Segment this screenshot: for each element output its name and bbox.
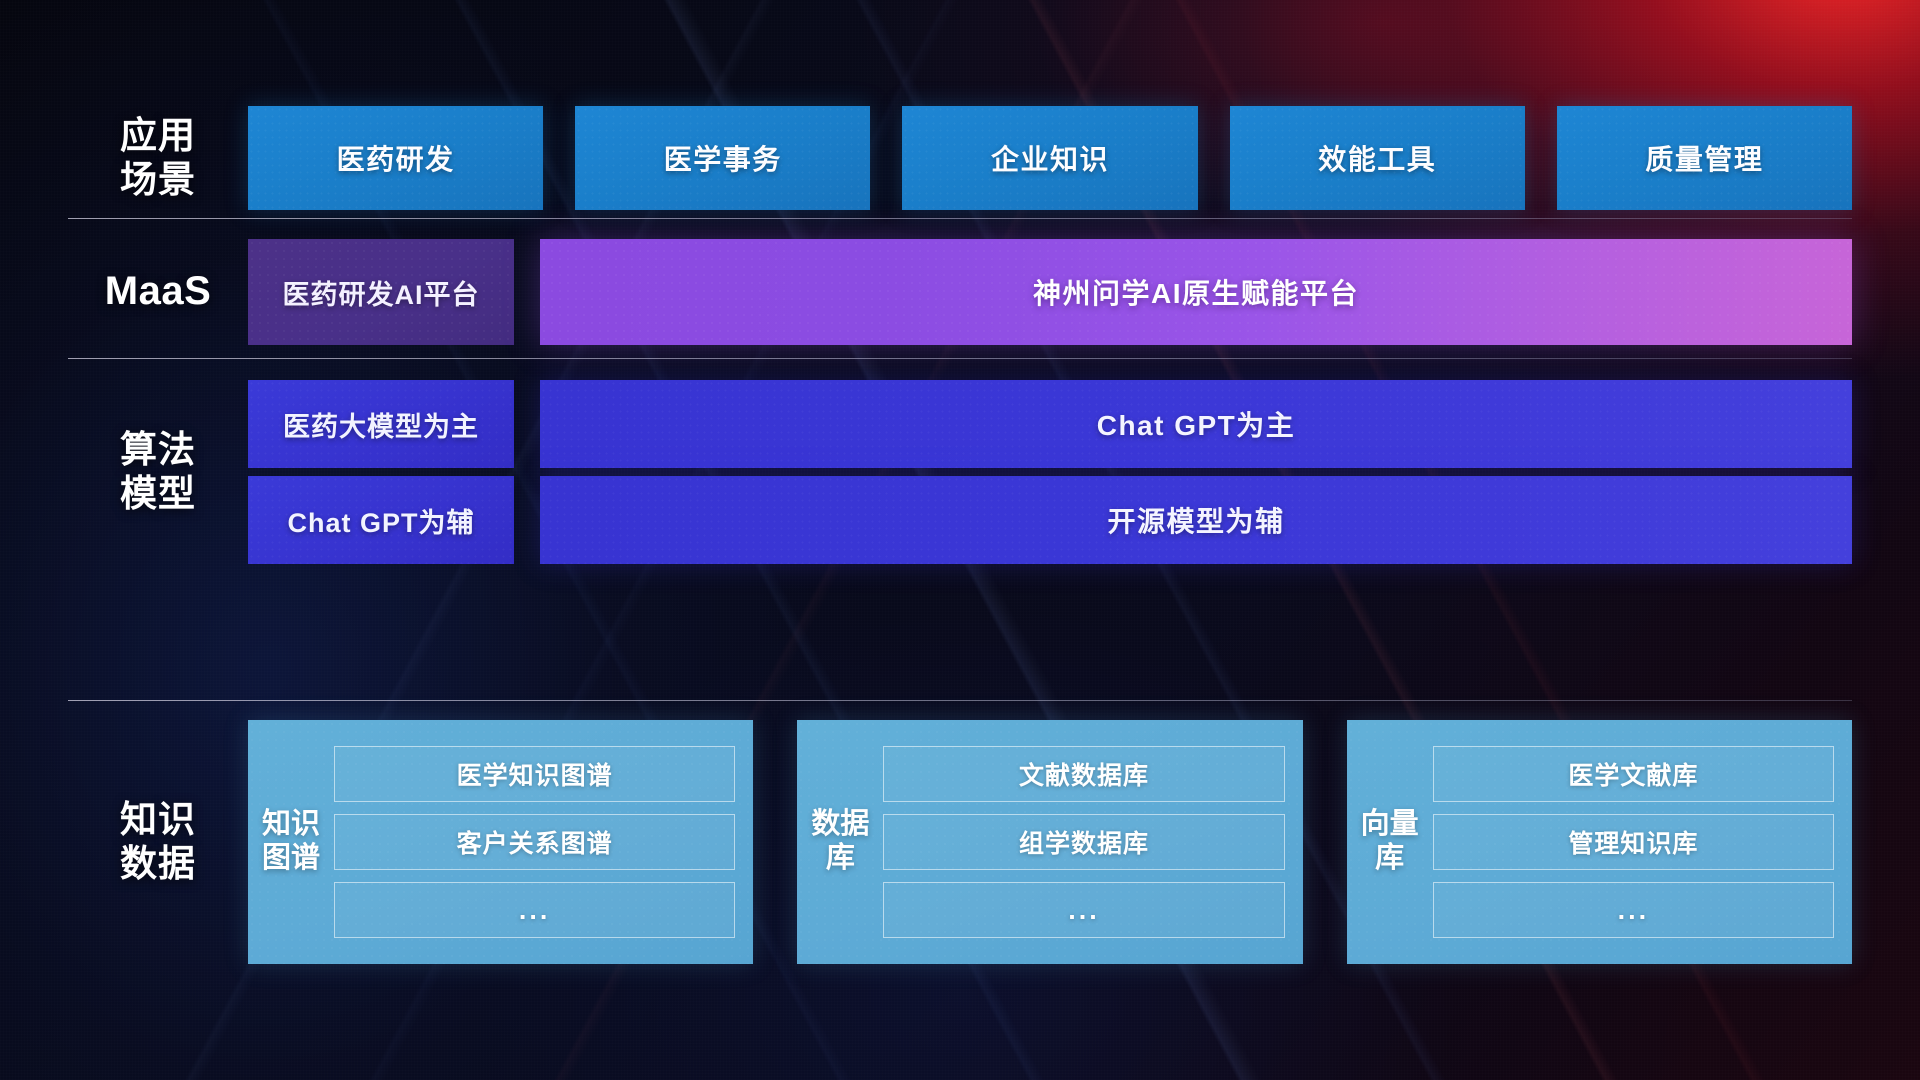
architecture-diagram: 应用 场景 医药研发 医学事务 企业知识 效能工具 质量管理 MaaS 医药研发…	[0, 0, 1920, 1080]
maas-content: 医药研发AI平台 神州问学AI原生赋能平台	[248, 239, 1852, 345]
knowledge-item-more-knowledge-graph[interactable]: ...	[334, 882, 735, 938]
knowledge-panel-title-knowledge-graph: 知识图谱	[262, 808, 320, 875]
row-application-scenarios: 应用 场景 医药研发 医学事务 企业知识 效能工具 质量管理	[68, 100, 1852, 216]
knowledge-panel-vector-store[interactable]: 向量库 医学文献库 管理知识库 ...	[1347, 720, 1852, 964]
maas-boxes-group: 医药研发AI平台 神州问学AI原生赋能平台	[248, 239, 1852, 345]
algo-box-drug-large-model-primary[interactable]: 医药大模型为主	[248, 380, 514, 468]
row-label-line-2: 场景	[68, 158, 248, 202]
knowledge-item-customer-relation-graph[interactable]: 客户关系图谱	[334, 814, 735, 870]
application-scenarios-content: 医药研发 医学事务 企业知识 效能工具 质量管理	[248, 106, 1852, 210]
row-label-maas: MaaS	[68, 268, 248, 315]
row-knowledge-data: 知识 数据 知识图谱 医学知识图谱 客户关系图谱 ... 数据库	[68, 720, 1852, 964]
algorithm-rows-group: 医药大模型为主 Chat GPT为主 Chat GPT为辅 开源模型为辅	[248, 380, 1852, 564]
row-label-line-1: 知识	[68, 798, 248, 842]
row-label-line-1: 算法	[68, 428, 248, 472]
knowledge-item-medical-knowledge-graph[interactable]: 医学知识图谱	[334, 746, 735, 802]
knowledge-panel-database[interactable]: 数据库 文献数据库 组学数据库 ...	[797, 720, 1302, 964]
knowledge-panel-knowledge-graph[interactable]: 知识图谱 医学知识图谱 客户关系图谱 ...	[248, 720, 753, 964]
row-label-line-2: 模型	[68, 472, 248, 516]
algo-box-chatgpt-primary[interactable]: Chat GPT为主	[540, 380, 1852, 468]
divider-algorithm-knowledge	[68, 700, 1852, 701]
algo-box-chatgpt-secondary[interactable]: Chat GPT为辅	[248, 476, 514, 564]
row-algorithm-models: 算法 模型 医药大模型为主 Chat GPT为主 Chat GPT为辅 开源模型…	[68, 378, 1852, 566]
knowledge-panels-group: 知识图谱 医学知识图谱 客户关系图谱 ... 数据库 文献数据库 组学数据库 .…	[248, 720, 1852, 964]
knowledge-item-more-vector-store[interactable]: ...	[1433, 882, 1834, 938]
algo-box-opensource-secondary[interactable]: 开源模型为辅	[540, 476, 1852, 564]
knowledge-items-knowledge-graph: 医学知识图谱 客户关系图谱 ...	[334, 746, 735, 938]
app-box-efficiency-tools[interactable]: 效能工具	[1230, 106, 1525, 210]
algorithm-row-secondary: Chat GPT为辅 开源模型为辅	[248, 476, 1852, 564]
knowledge-data-content: 知识图谱 医学知识图谱 客户关系图谱 ... 数据库 文献数据库 组学数据库 .…	[248, 720, 1852, 964]
maas-box-shenzhou-wenxue-platform[interactable]: 神州问学AI原生赋能平台	[540, 239, 1852, 345]
knowledge-item-omics-database[interactable]: 组学数据库	[883, 814, 1284, 870]
knowledge-item-literature-database[interactable]: 文献数据库	[883, 746, 1284, 802]
row-label-application-scenarios: 应用 场景	[68, 114, 248, 201]
row-label-knowledge-data: 知识 数据	[68, 798, 248, 885]
app-box-quality-management[interactable]: 质量管理	[1557, 106, 1852, 210]
knowledge-item-more-database[interactable]: ...	[883, 882, 1284, 938]
row-label-algorithm-models: 算法 模型	[68, 428, 248, 515]
knowledge-items-vector-store: 医学文献库 管理知识库 ...	[1433, 746, 1834, 938]
knowledge-panel-title-database: 数据库	[811, 808, 869, 875]
knowledge-items-database: 文献数据库 组学数据库 ...	[883, 746, 1284, 938]
app-box-drug-rnd[interactable]: 医药研发	[248, 106, 543, 210]
divider-applications-maas	[68, 218, 1852, 219]
algorithm-models-content: 医药大模型为主 Chat GPT为主 Chat GPT为辅 开源模型为辅	[248, 380, 1852, 564]
maas-box-drug-rnd-ai-platform[interactable]: 医药研发AI平台	[248, 239, 514, 345]
row-maas: MaaS 医药研发AI平台 神州问学AI原生赋能平台	[68, 238, 1852, 346]
row-label-line-1: 应用	[68, 114, 248, 158]
app-box-medical-affairs[interactable]: 医学事务	[575, 106, 870, 210]
application-boxes-group: 医药研发 医学事务 企业知识 效能工具 质量管理	[248, 106, 1852, 210]
algorithm-row-primary: 医药大模型为主 Chat GPT为主	[248, 380, 1852, 468]
knowledge-item-medical-literature-store[interactable]: 医学文献库	[1433, 746, 1834, 802]
knowledge-item-management-knowledge-store[interactable]: 管理知识库	[1433, 814, 1834, 870]
knowledge-panel-title-vector-store: 向量库	[1361, 808, 1419, 875]
row-label-line-2: 数据	[68, 842, 248, 886]
divider-maas-algorithm	[68, 358, 1852, 359]
app-box-enterprise-knowledge[interactable]: 企业知识	[902, 106, 1197, 210]
